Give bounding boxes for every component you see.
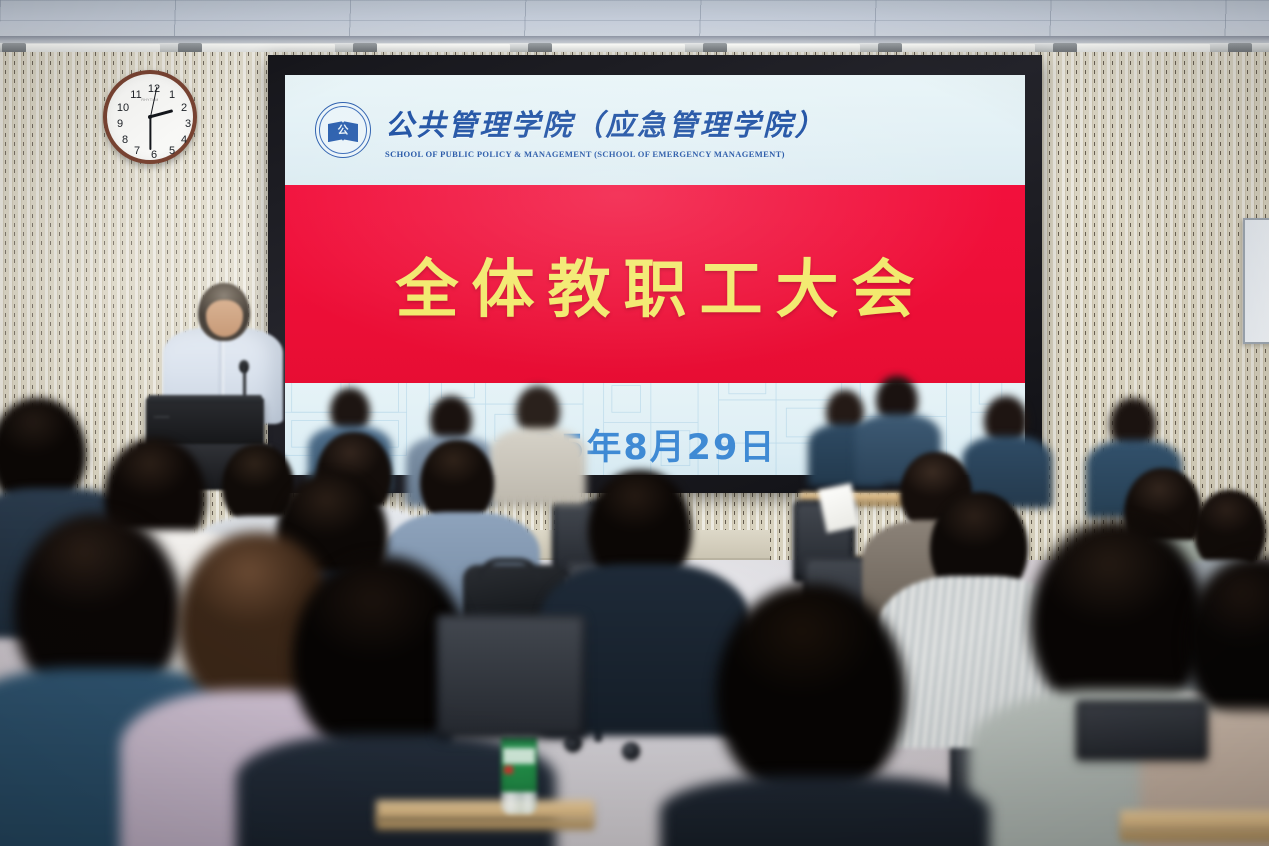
open-laptop-rear-row[interactable] — [1076, 700, 1208, 760]
attendee-torso — [490, 428, 586, 504]
clock-numeral: 2 — [176, 101, 192, 115]
analog-wall-clock: RHYTHM 12 1 2 3 4 5 6 7 8 9 10 11 — [103, 70, 197, 164]
clock-numeral: 5 — [164, 144, 180, 158]
attendee-torso — [660, 776, 990, 846]
clock-numeral: 1 — [164, 88, 180, 102]
clock-minute-hand — [149, 117, 151, 150]
desk-edge — [1120, 828, 1269, 842]
clock-numeral: 3 — [180, 117, 196, 131]
backpack-strap — [477, 558, 541, 580]
clock-numeral: 9 — [112, 117, 128, 131]
slide-red-banner: 全体教职工大会 — [285, 185, 1025, 383]
desk-edge — [376, 818, 594, 830]
school-emblem-icon: 公 — [315, 102, 371, 158]
clock-numeral: 10 — [115, 101, 131, 115]
clock-hour-hand — [150, 109, 174, 118]
bottle-label — [501, 736, 537, 792]
school-name-english: SCHOOL OF PUBLIC POLICY & MANAGEMENT (SC… — [385, 149, 826, 159]
desk-surface — [376, 800, 594, 820]
clock-numeral: 11 — [128, 88, 144, 102]
conference-room-photo: RHYTHM 12 1 2 3 4 5 6 7 8 9 10 11 公 — [0, 0, 1269, 846]
clock-numeral: 8 — [117, 133, 133, 147]
chair-caster — [622, 742, 640, 760]
emblem-glyph: 公 — [338, 122, 349, 138]
school-name-chinese: 公共管理学院（应急管理学院） — [385, 102, 826, 144]
wall-whiteboard[interactable] — [1243, 218, 1269, 344]
clock-center-pin — [148, 115, 152, 119]
ceiling-wall-junction — [0, 36, 1269, 43]
desk-surface — [1120, 810, 1269, 830]
slide-header: 公 公共管理学院（应急管理学院） SCHOOL OF PUBLIC POLICY… — [285, 75, 1025, 185]
chair-backrest — [436, 614, 586, 738]
laptop-brand-text: Lenovo — [154, 414, 170, 419]
attendee-head — [716, 584, 906, 798]
slide-title: 全体教职工大会 — [383, 239, 928, 330]
clock-numeral: 6 — [146, 148, 162, 162]
